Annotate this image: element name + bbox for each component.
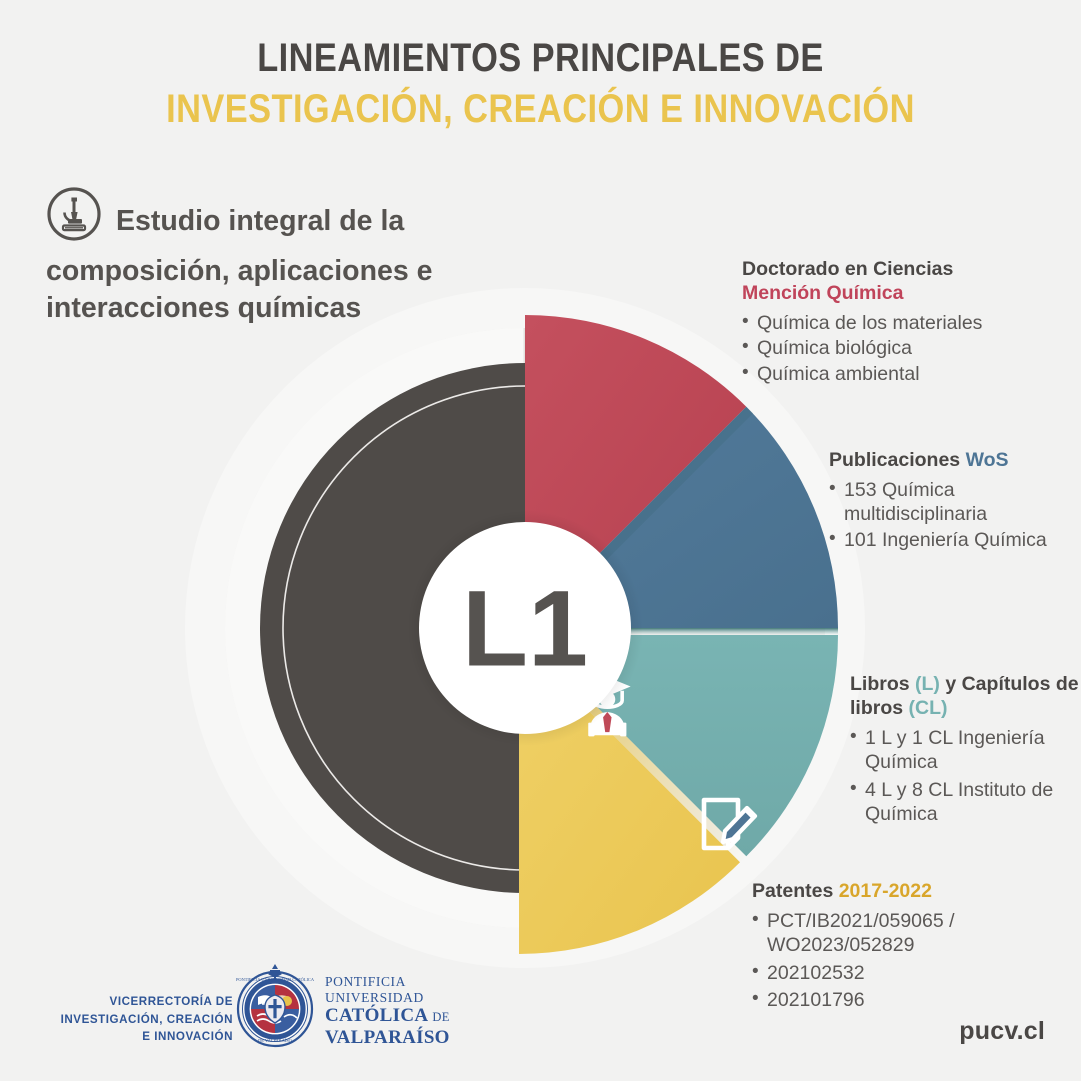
svg-text:PONTIFICIA UNIVERSIDAD CATÓLIC: PONTIFICIA UNIVERSIDAD CATÓLICA xyxy=(236,977,315,982)
block-patentes: Patentes 2017-2022 PCT/IB2021/059065 / W… xyxy=(752,880,1062,1016)
list-item: 202102532 xyxy=(752,961,1062,986)
block-libros-list: 1 L y 1 CL Ingeniería Química 4 L y 8 CL… xyxy=(850,726,1081,827)
title-part-1: Libros xyxy=(850,673,915,695)
university-catolica: CATÓLICA xyxy=(325,1005,427,1026)
svg-text:DE VALPARAÍSO: DE VALPARAÍSO xyxy=(258,1038,292,1043)
vrin-line-2: INVESTIGACIÓN, CREACIÓN xyxy=(48,1011,233,1029)
block-publicaciones-wos: Publicaciones WoS 153 Química multidisci… xyxy=(829,449,1079,553)
block-patentes-list: PCT/IB2021/059065 / WO2023/052829 202102… xyxy=(752,909,1062,1013)
list-item: PCT/IB2021/059065 / WO2023/052829 xyxy=(752,909,1062,958)
list-item: 153 Química multidisciplinaria xyxy=(829,478,1079,527)
university-line-4: VALPARAÍSO xyxy=(325,1027,450,1049)
segment-edge-top xyxy=(522,328,525,363)
block-doctorado: Doctorado en Ciencias Mención Química Qu… xyxy=(742,258,1072,387)
title-line-2: INVESTIGACIÓN, CREACIÓN E INNOVACIÓN xyxy=(76,87,1006,132)
university-de: DE xyxy=(432,1010,449,1024)
title-main: Patentes xyxy=(752,880,839,902)
pucv-crest-icon: PONTIFICIA UNIVERSIDAD CATÓLICA DE VALPA… xyxy=(232,961,318,1049)
title-accent-l: (L) xyxy=(915,673,940,695)
title-accent-cl: (CL) xyxy=(909,697,948,719)
pucv-url[interactable]: pucv.cl xyxy=(959,1017,1045,1046)
microscope-icon xyxy=(46,186,102,253)
university-line-2: UNIVERSIDAD xyxy=(325,990,450,1006)
title-line-1: LINEAMIENTOS PRINCIPALES DE xyxy=(76,36,1006,81)
title-main: Doctorado en Ciencias xyxy=(742,258,953,280)
infographic-canvas: LINEAMIENTOS PRINCIPALES DE INVESTIGACIÓ… xyxy=(0,0,1081,1081)
title-main: Publicaciones xyxy=(829,449,966,471)
list-item: 4 L y 8 CL Instituto de Química xyxy=(850,778,1081,827)
vrin-line-3: E INNOVACIÓN xyxy=(48,1028,233,1046)
block-patentes-title: Patentes 2017-2022 xyxy=(752,880,1062,904)
center-label: L1 xyxy=(462,568,588,689)
list-item: Química ambiental xyxy=(742,362,1072,387)
title-accent: Mención Química xyxy=(742,282,903,304)
block-wos-list: 153 Química multidisciplinaria 101 Ingen… xyxy=(829,478,1079,553)
block-doctorado-list: Química de los materiales Química biológ… xyxy=(742,311,1072,387)
vrin-line-1: VICERRECTORÍA DE xyxy=(48,993,233,1011)
university-line-1: PONTIFICIA xyxy=(325,974,450,990)
block-libros-title: Libros (L) y Capítulos de libros (CL) xyxy=(850,673,1081,721)
pucv-wordmark: PONTIFICIA UNIVERSIDAD CATÓLICA DE VALPA… xyxy=(325,974,450,1049)
title-accent: WoS xyxy=(966,449,1009,471)
list-item: Química de los materiales xyxy=(742,311,1072,336)
list-item: 202101796 xyxy=(752,988,1062,1013)
list-item: 101 Ingeniería Química xyxy=(829,528,1079,553)
list-item: 1 L y 1 CL Ingeniería Química xyxy=(850,726,1081,775)
university-line-3: CATÓLICA DE xyxy=(325,1005,450,1027)
title-accent: 2017-2022 xyxy=(839,880,932,902)
block-libros: Libros (L) y Capítulos de libros (CL) 1 … xyxy=(850,673,1081,830)
page-title: LINEAMIENTOS PRINCIPALES DE INVESTIGACIÓ… xyxy=(0,36,1081,132)
list-item: Química biológica xyxy=(742,336,1072,361)
block-wos-title: Publicaciones WoS xyxy=(829,449,1079,473)
block-doctorado-title: Doctorado en Ciencias Mención Química xyxy=(742,258,1072,306)
vrin-logotype: VICERRECTORÍA DE INVESTIGACIÓN, CREACIÓN… xyxy=(48,993,233,1046)
